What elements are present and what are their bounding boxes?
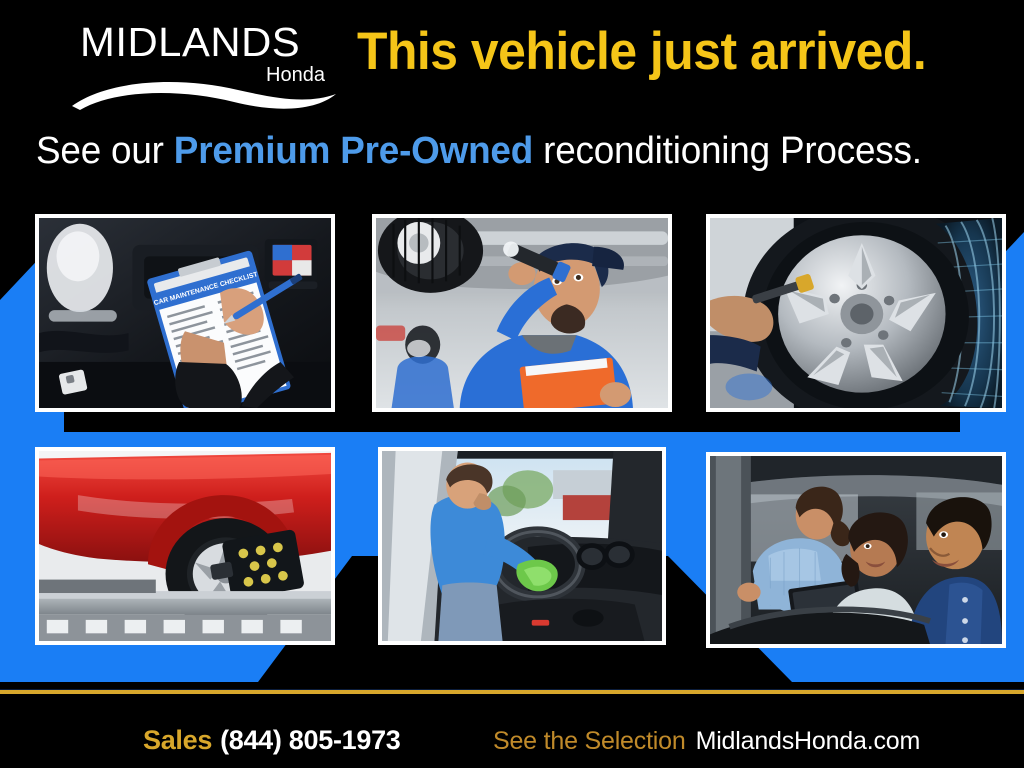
website-url[interactable]: MidlandsHonda.com <box>696 727 921 755</box>
photo-alignment-rack[interactable] <box>35 447 335 645</box>
subheadline-accent: Premium Pre-Owned <box>174 130 533 172</box>
headline: This vehicle just arrived. <box>357 23 926 81</box>
footer-divider <box>0 689 1024 695</box>
sales-phone[interactable]: (844) 805-1973 <box>220 725 400 755</box>
photo-undercarriage-inspection[interactable] <box>372 214 672 412</box>
brand-logo[interactable]: MIDLANDS Honda <box>68 20 348 100</box>
selection-label: See the Selection <box>493 727 686 755</box>
photo-wheel-tire-service[interactable] <box>706 214 1006 412</box>
sales-contact[interactable]: Sales(844) 805-1973 <box>143 724 401 756</box>
photo-maintenance-checklist[interactable]: CAR MAINTENANCE CHECKLIST <box>35 214 335 412</box>
photo-interior-detailing[interactable] <box>378 447 666 645</box>
subheadline: See our Premium Pre-Owned reconditioning… <box>36 127 922 175</box>
subheadline-prefix: See our <box>36 130 174 172</box>
advertisement-banner: MIDLANDS Honda This vehicle just arrived… <box>0 0 1024 768</box>
brand-name: MIDLANDS <box>80 20 300 64</box>
swoosh-underline-icon <box>68 72 348 112</box>
header: MIDLANDS Honda This vehicle just arrived… <box>0 0 1024 196</box>
footer: Sales(844) 805-1973 See the SelectionMid… <box>0 700 1024 768</box>
subheadline-suffix: reconditioning Process. <box>533 130 922 172</box>
sales-label: Sales <box>143 725 212 755</box>
photo-customer-delivery[interactable] <box>706 452 1006 648</box>
selection-link[interactable]: See the SelectionMidlandsHonda.com <box>493 725 920 757</box>
